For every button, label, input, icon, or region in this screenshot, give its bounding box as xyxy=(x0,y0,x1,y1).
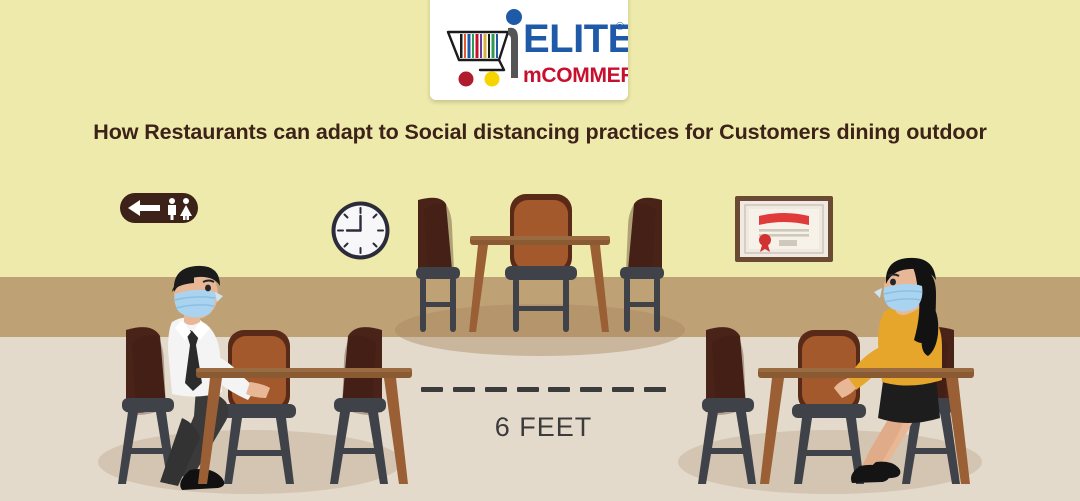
brand-word-elite: ELITE xyxy=(523,17,628,61)
wall-clock xyxy=(329,199,392,262)
logo-dot-icon xyxy=(506,9,522,25)
shadow-background-table xyxy=(395,304,685,356)
page-title: How Restaurants can adapt to Social dist… xyxy=(0,120,1080,145)
social-distancing-infographic: 6 FEET xyxy=(0,0,1080,501)
cart-wheel-right xyxy=(485,72,500,87)
registered-mark: ® xyxy=(616,21,624,33)
barcode-icon xyxy=(460,34,498,58)
cart-wheel-left xyxy=(459,72,474,87)
brand-word-mcommerce: mCOMMERCE xyxy=(523,64,628,87)
shadow-right-table xyxy=(678,430,982,494)
right-table-group xyxy=(698,258,974,484)
letter-i-mark xyxy=(506,9,522,78)
shadow-left-table xyxy=(98,430,402,494)
elite-mcommerce-logo: ELITE ® mCOMMERCE xyxy=(430,0,628,100)
brand-logo-card[interactable]: ELITE ® mCOMMERCE xyxy=(430,0,628,100)
restroom-direction-sign xyxy=(120,193,198,223)
six-feet-dashed-line xyxy=(421,386,666,392)
framed-certificate xyxy=(735,196,833,262)
six-feet-label: 6 FEET xyxy=(421,412,666,443)
